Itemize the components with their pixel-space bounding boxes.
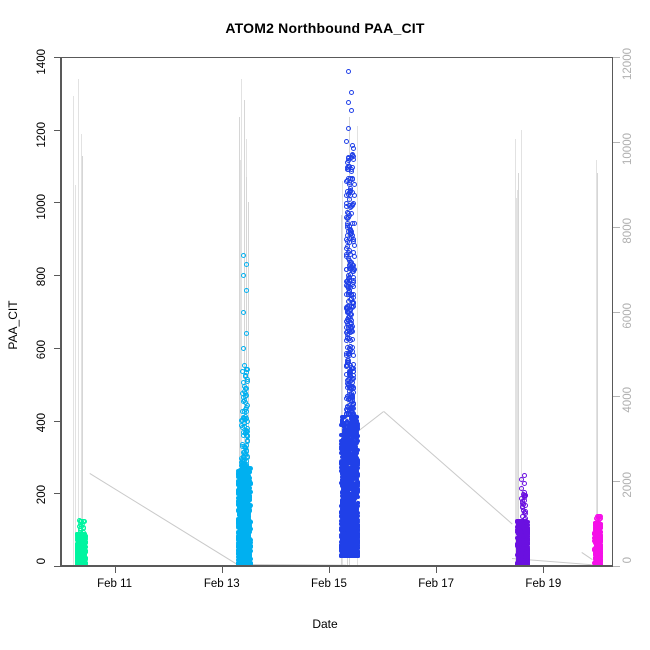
data-point-outlier bbox=[244, 262, 249, 267]
data-point bbox=[346, 550, 350, 554]
left-axis-tick-label: 1400 bbox=[36, 49, 48, 75]
data-point bbox=[243, 391, 248, 396]
data-point bbox=[341, 485, 345, 489]
data-point bbox=[242, 384, 247, 389]
data-point-outlier bbox=[241, 346, 246, 351]
data-point bbox=[355, 477, 359, 481]
data-point bbox=[599, 526, 603, 530]
secondary-spike bbox=[81, 134, 82, 566]
data-point bbox=[247, 534, 251, 538]
data-point bbox=[345, 160, 350, 165]
data-point bbox=[348, 189, 353, 194]
data-point-outlier bbox=[241, 273, 246, 278]
data-point bbox=[351, 157, 356, 162]
data-point bbox=[244, 565, 248, 566]
data-point bbox=[355, 533, 359, 537]
secondary-spike bbox=[516, 198, 517, 566]
data-point bbox=[81, 565, 85, 566]
data-point bbox=[240, 534, 244, 538]
data-point bbox=[348, 193, 353, 198]
bottom-axis-tick bbox=[222, 566, 223, 573]
data-point bbox=[246, 528, 250, 532]
right-axis-tick-label: 0 bbox=[622, 557, 634, 563]
data-point bbox=[351, 300, 356, 305]
y-axis-title: PAA_CIT bbox=[6, 300, 20, 349]
data-point bbox=[348, 260, 353, 265]
left-axis-tick bbox=[54, 202, 61, 203]
right-axis-tick-label: 6000 bbox=[622, 303, 634, 329]
left-axis-tick bbox=[54, 421, 61, 422]
data-point bbox=[247, 519, 251, 523]
baseline-connector bbox=[581, 552, 592, 560]
bottom-axis-tick-label: Feb 19 bbox=[525, 578, 561, 590]
right-axis-tick bbox=[613, 396, 620, 397]
data-point bbox=[348, 477, 352, 481]
data-point bbox=[516, 544, 520, 548]
data-point-outlier bbox=[241, 310, 246, 315]
left-axis-tick-label: 800 bbox=[36, 267, 48, 286]
data-point bbox=[243, 565, 247, 566]
data-point bbox=[355, 456, 359, 460]
bottom-axis-line bbox=[61, 566, 613, 567]
data-point bbox=[344, 479, 348, 483]
left-axis-tick bbox=[54, 57, 61, 58]
data-point bbox=[241, 516, 245, 520]
data-point bbox=[351, 532, 355, 536]
right-axis-tick-label: 8000 bbox=[622, 218, 634, 244]
data-point bbox=[353, 550, 357, 554]
data-point bbox=[346, 543, 350, 547]
right-axis-tick-label: 12000 bbox=[622, 48, 634, 80]
page-title: ATOM2 Northbound PAA_CIT bbox=[0, 20, 650, 36]
data-point bbox=[347, 433, 351, 437]
right-axis-tick-label: 4000 bbox=[622, 387, 634, 413]
data-point bbox=[342, 531, 346, 535]
data-point bbox=[523, 528, 527, 532]
data-point bbox=[349, 169, 354, 174]
data-point bbox=[245, 439, 250, 444]
bottom-axis-tick-label: Feb 13 bbox=[204, 578, 240, 590]
secondary-spike bbox=[73, 96, 74, 566]
secondary-spike bbox=[75, 185, 76, 566]
data-point bbox=[349, 525, 353, 529]
left-axis-tick-label: 600 bbox=[36, 340, 48, 359]
data-point bbox=[245, 557, 249, 561]
right-axis-tick-label: 2000 bbox=[622, 472, 634, 498]
data-point bbox=[245, 403, 250, 408]
data-point bbox=[81, 565, 85, 566]
data-point bbox=[516, 562, 520, 566]
data-point bbox=[519, 565, 523, 566]
data-point bbox=[356, 511, 360, 515]
data-point bbox=[350, 143, 355, 148]
bottom-axis-tick-label: Feb 15 bbox=[311, 578, 347, 590]
data-point-outlier bbox=[346, 100, 351, 105]
data-point bbox=[344, 353, 349, 358]
baseline-connector bbox=[383, 411, 512, 524]
data-point bbox=[244, 465, 249, 470]
data-point bbox=[344, 450, 348, 454]
data-point bbox=[245, 379, 250, 384]
data-point bbox=[346, 397, 351, 402]
data-point bbox=[355, 470, 359, 474]
data-point bbox=[351, 401, 356, 406]
data-point bbox=[351, 496, 355, 500]
data-point bbox=[595, 564, 599, 566]
data-point-outlier bbox=[349, 90, 354, 95]
data-point bbox=[351, 284, 356, 289]
data-point bbox=[355, 448, 359, 452]
data-point bbox=[341, 547, 345, 551]
data-point bbox=[239, 563, 243, 566]
data-point bbox=[242, 409, 247, 414]
left-axis-tick bbox=[54, 275, 61, 276]
data-point-outlier bbox=[519, 486, 524, 491]
secondary-spike bbox=[357, 126, 358, 566]
right-axis-tick bbox=[613, 566, 620, 567]
data-point bbox=[349, 500, 353, 504]
data-point bbox=[525, 546, 529, 550]
data-point bbox=[82, 565, 86, 566]
left-axis-tick-label: 0 bbox=[36, 558, 48, 564]
data-point bbox=[339, 423, 343, 427]
baseline-connector bbox=[245, 564, 346, 566]
data-point-outlier bbox=[346, 126, 351, 131]
left-axis-tick-label: 1000 bbox=[36, 194, 48, 220]
data-point bbox=[245, 488, 249, 492]
x-axis-title: Date bbox=[0, 617, 650, 631]
baseline-connector bbox=[89, 473, 239, 566]
data-point bbox=[242, 363, 247, 368]
data-point-outlier bbox=[522, 481, 527, 486]
data-point bbox=[351, 269, 356, 274]
data-point bbox=[83, 565, 87, 566]
data-point bbox=[248, 565, 252, 566]
right-axis-tick bbox=[613, 57, 620, 58]
data-point bbox=[350, 337, 355, 342]
data-point bbox=[77, 565, 81, 566]
left-axis-tick bbox=[54, 130, 61, 131]
data-point bbox=[240, 444, 245, 449]
data-point bbox=[236, 565, 240, 566]
data-point-outlier bbox=[349, 108, 354, 113]
data-point-outlier bbox=[346, 69, 351, 74]
data-point bbox=[242, 547, 246, 551]
data-point bbox=[78, 565, 82, 566]
data-point bbox=[347, 389, 352, 394]
plot-area[interactable] bbox=[62, 58, 612, 565]
data-point bbox=[352, 254, 357, 259]
data-point bbox=[345, 358, 350, 363]
data-point bbox=[593, 550, 597, 554]
data-point bbox=[344, 204, 349, 209]
data-point bbox=[242, 510, 246, 514]
data-point bbox=[344, 506, 348, 510]
data-point bbox=[523, 516, 528, 521]
data-point bbox=[351, 430, 355, 434]
data-point bbox=[344, 267, 349, 272]
data-point bbox=[352, 243, 357, 248]
data-point bbox=[356, 501, 360, 505]
secondary-spike bbox=[78, 79, 79, 566]
data-point bbox=[246, 538, 250, 542]
data-point bbox=[515, 520, 519, 524]
right-axis-tick bbox=[613, 142, 620, 143]
right-axis-tick bbox=[613, 312, 620, 313]
data-point bbox=[350, 471, 354, 475]
chart-root: ATOM2 Northbound PAA_CIT 020040060080010… bbox=[0, 0, 650, 650]
data-point bbox=[236, 537, 240, 541]
data-point bbox=[344, 524, 348, 528]
data-point bbox=[520, 499, 525, 504]
data-point bbox=[241, 454, 246, 459]
right-axis-tick-label: 10000 bbox=[622, 133, 634, 165]
left-axis-tick-label: 200 bbox=[36, 485, 48, 504]
data-point bbox=[524, 551, 528, 555]
bottom-axis-tick bbox=[436, 566, 437, 573]
data-point bbox=[344, 364, 349, 369]
bottom-axis-tick-label: Feb 11 bbox=[97, 578, 132, 590]
right-axis-tick bbox=[613, 227, 620, 228]
data-point bbox=[346, 211, 351, 216]
data-point bbox=[237, 565, 241, 566]
bottom-axis-tick bbox=[115, 566, 116, 573]
bottom-axis-tick bbox=[543, 566, 544, 573]
data-point bbox=[355, 490, 359, 494]
left-axis-tick bbox=[54, 348, 61, 349]
data-point bbox=[241, 565, 245, 566]
data-point bbox=[248, 565, 252, 566]
left-axis-tick bbox=[54, 566, 61, 567]
data-point-outlier bbox=[522, 473, 527, 478]
data-point bbox=[345, 306, 350, 311]
data-point bbox=[240, 557, 244, 561]
secondary-spike bbox=[597, 173, 598, 567]
right-axis-tick bbox=[613, 481, 620, 482]
data-point bbox=[350, 203, 355, 208]
data-point bbox=[348, 176, 353, 181]
data-point bbox=[77, 554, 81, 558]
bottom-axis-tick-label: Feb 17 bbox=[418, 578, 454, 590]
data-point-outlier bbox=[244, 288, 249, 293]
data-point bbox=[345, 244, 350, 249]
data-point-outlier bbox=[244, 331, 249, 336]
data-point bbox=[351, 385, 356, 390]
left-axis-tick bbox=[54, 493, 61, 494]
data-point bbox=[340, 537, 344, 541]
data-point bbox=[349, 325, 354, 330]
data-point-outlier bbox=[241, 253, 246, 258]
plot-frame bbox=[61, 57, 613, 566]
data-point-outlier bbox=[81, 519, 86, 524]
bottom-axis-tick bbox=[329, 566, 330, 573]
left-axis-tick-label: 1200 bbox=[36, 122, 48, 148]
left-axis-tick-label: 400 bbox=[36, 413, 48, 432]
data-point bbox=[351, 520, 355, 524]
data-point bbox=[239, 522, 243, 526]
